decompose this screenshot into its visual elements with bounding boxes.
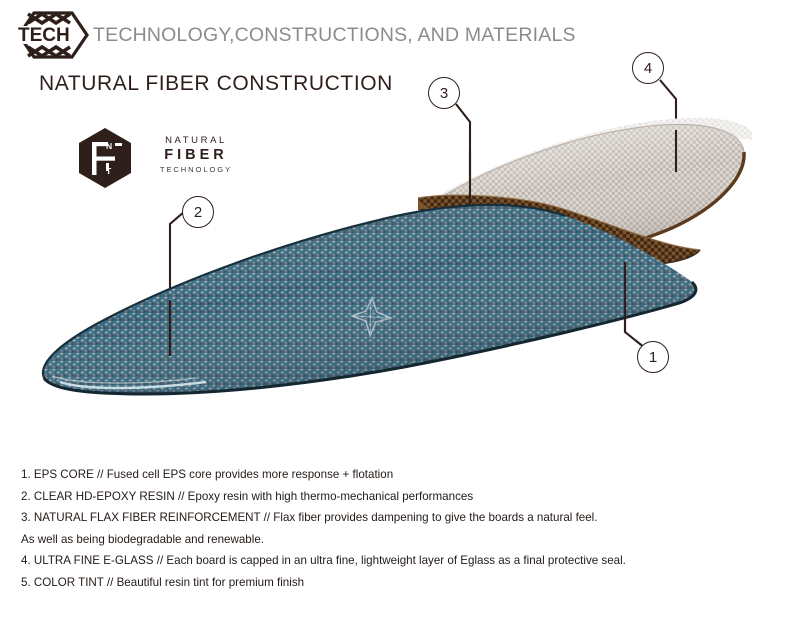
legend-item-3: 3. NATURAL FLAX FIBER REINFORCEMENT // F… (21, 507, 781, 529)
legend-item-4: 4. ULTRA FINE E-GLASS // Each board is c… (21, 550, 781, 572)
callout-4[interactable]: 4 (632, 52, 664, 84)
surfboard-construction-diagram (0, 0, 800, 455)
legend-item-1: 1. EPS CORE // Fused cell EPS core provi… (21, 464, 781, 486)
construction-legend: 1. EPS CORE // Fused cell EPS core provi… (21, 464, 781, 593)
layer-color-tint (43, 205, 696, 394)
legend-item-2: 2. CLEAR HD-EPOXY RESIN // Epoxy resin w… (21, 486, 781, 508)
callout-1[interactable]: 1 (637, 341, 669, 373)
legend-item-3-continued: As well as being biodegradable and renew… (21, 529, 781, 551)
callout-3[interactable]: 3 (428, 77, 460, 109)
callout-2[interactable]: 2 (182, 196, 214, 228)
legend-item-5: 5. COLOR TINT // Beautiful resin tint fo… (21, 572, 781, 594)
